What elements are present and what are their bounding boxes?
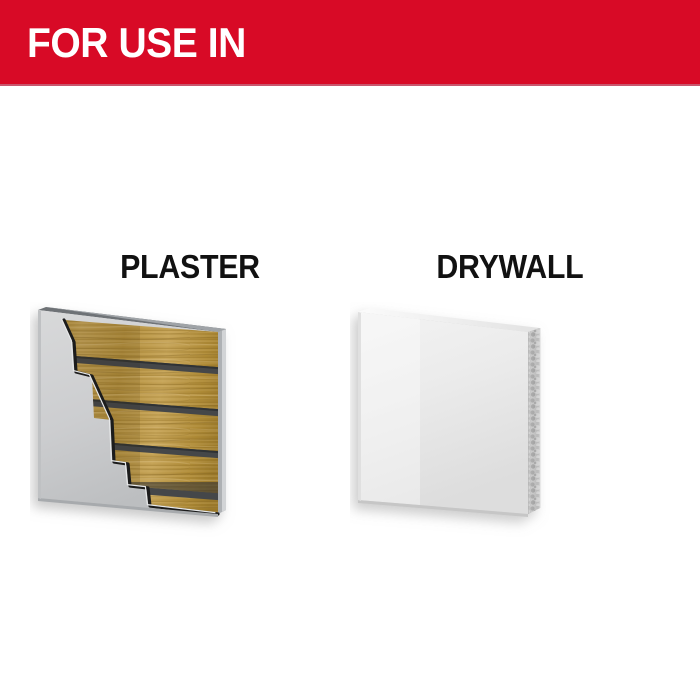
plaster-and-lath-svg [30, 302, 350, 542]
drywall-board-svg [350, 302, 670, 542]
page-root: FOR USE IN PLASTER [0, 0, 700, 700]
plaster-left-edge [38, 310, 41, 499]
plaster-illustration [30, 302, 350, 542]
drywall-panel-body [358, 308, 542, 518]
page-title: FOR USE IN [27, 20, 246, 66]
material-label-plaster-text: PLASTER [120, 250, 260, 284]
material-label-plaster: PLASTER [30, 250, 350, 284]
header-banner: FOR USE IN [0, 0, 700, 86]
material-card-drywall: DRYWALL [350, 250, 670, 550]
material-card-plaster: PLASTER [30, 250, 350, 550]
material-label-drywall: DRYWALL [350, 250, 670, 284]
banner-underline-divider [0, 84, 700, 86]
drywall-illustration [350, 302, 670, 542]
plaster-panel-body [38, 307, 230, 522]
plaster-right-edge-highlight [222, 329, 226, 511]
drywall-left-edge [358, 312, 361, 501]
drywall-face-sheen [358, 312, 420, 505]
material-label-drywall-text: DRYWALL [436, 250, 583, 284]
drywall-gypsum-core [526, 326, 542, 518]
